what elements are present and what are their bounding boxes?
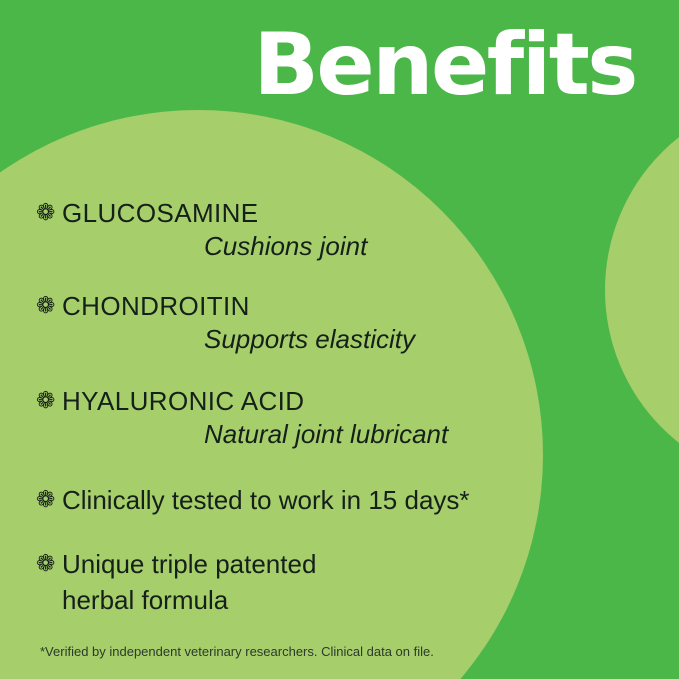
list-item: ❁ Unique triple patented herbal formula [36,547,636,619]
flower-bullet-icon: ❁ [36,483,62,517]
spacer [36,269,636,289]
flower-bullet-icon: ❁ [36,196,62,230]
spacer [36,457,636,483]
benefit-heading: ❁ Clinically tested to work in 15 days* [36,483,636,517]
benefit-title: Clinically tested to work in 15 days* [62,483,470,517]
benefit-subtitle: Supports elasticity [204,322,636,356]
flower-bullet-icon: ❁ [36,289,62,323]
benefit-title: HYALURONIC ACID [62,384,304,418]
list-item: ❁ HYALURONIC ACID Natural joint lubrican… [36,384,636,451]
benefit-title-continuation: herbal formula [62,581,636,619]
list-item: ❁ CHONDROITIN Supports elasticity [36,289,636,356]
list-item: ❁ GLUCOSAMINE Cushions joint [36,196,636,263]
benefit-heading: ❁ HYALURONIC ACID [36,384,636,418]
footnote-disclaimer: *Verified by independent veterinary rese… [40,644,434,660]
benefit-subtitle: Natural joint lubricant [204,417,636,451]
benefits-infographic: Benefits ❁ GLUCOSAMINE Cushions joint ❁ … [0,0,679,679]
spacer [36,523,636,547]
benefit-title: CHONDROITIN [62,289,250,323]
benefit-subtitle: Cushions joint [204,229,636,263]
spacer [36,362,636,384]
benefit-heading: ❁ CHONDROITIN [36,289,636,323]
benefit-title: Unique triple patented [62,547,316,581]
benefit-title: GLUCOSAMINE [62,196,259,230]
content-layer: Benefits ❁ GLUCOSAMINE Cushions joint ❁ … [0,0,679,679]
benefits-list: ❁ GLUCOSAMINE Cushions joint ❁ CHONDROIT… [36,196,636,625]
benefit-heading: ❁ GLUCOSAMINE [36,196,636,230]
flower-bullet-icon: ❁ [36,547,62,581]
list-item: ❁ Clinically tested to work in 15 days* [36,483,636,517]
page-title: Benefits [253,22,636,108]
flower-bullet-icon: ❁ [36,384,62,418]
benefit-heading: ❁ Unique triple patented [36,547,636,581]
